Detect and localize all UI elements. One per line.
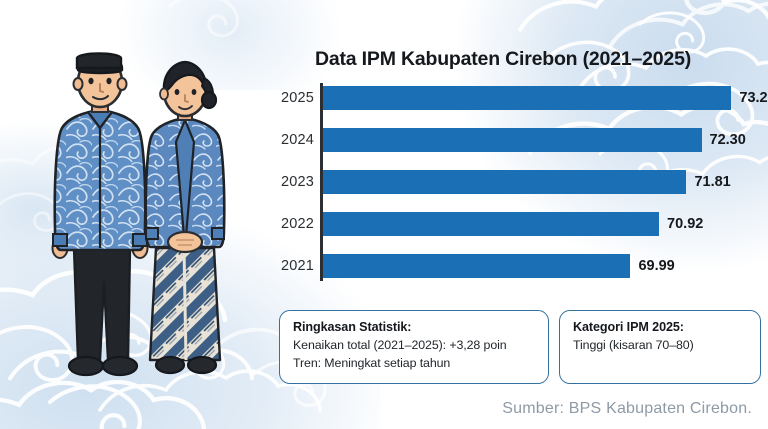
bar-track: 70.92 [320, 209, 760, 239]
bar-category-label: 2024 [268, 132, 320, 148]
bar-category-label: 2022 [268, 216, 320, 232]
bar-value-label: 73.27 [739, 90, 768, 106]
bar-row: 202169.99 [268, 251, 760, 281]
ipm-bar-chart: Data IPM Kabupaten Cirebon (2021–2025) 2… [268, 48, 760, 298]
source-caption: Sumber: BPS Kabupaten Cirebon. [502, 400, 752, 418]
bar-fill [323, 128, 702, 152]
bar-row: 202270.92 [268, 209, 760, 239]
bar-value-label: 69.99 [638, 258, 674, 274]
bar-category-label: 2023 [268, 174, 320, 190]
bar-category-label: 2021 [268, 258, 320, 274]
statistics-summary-box: Ringkasan Statistik: Kenaikan total (202… [279, 310, 549, 384]
statistics-summary-heading: Ringkasan Statistik: [293, 320, 536, 334]
bar-track: 69.99 [320, 251, 760, 281]
bar-track: 73.27 [320, 83, 760, 113]
chart-title: Data IPM Kabupaten Cirebon (2021–2025) [268, 48, 760, 71]
category-value: Tinggi (kisaran 70–80) [573, 337, 748, 355]
bar-row: 202472.30 [268, 125, 760, 155]
bar-fill [323, 254, 630, 278]
poster-canvas: Data IPM Kabupaten Cirebon (2021–2025) 2… [0, 0, 768, 429]
chart-plot-area: 202573.27202472.30202371.81202270.922021… [268, 83, 760, 281]
statistics-total-increase: Kenaikan total (2021–2025): +3,28 poin [293, 337, 536, 355]
bar-row: 202573.27 [268, 83, 760, 113]
statistics-trend: Tren: Meningkat setiap tahun [293, 355, 536, 373]
bar-row: 202371.81 [268, 167, 760, 197]
bar-value-label: 71.81 [694, 174, 730, 190]
bar-value-label: 70.92 [667, 216, 703, 232]
bar-track: 72.30 [320, 125, 760, 155]
bar-track: 71.81 [320, 167, 760, 197]
category-heading: Kategori IPM 2025: [573, 320, 748, 334]
bar-fill [323, 170, 686, 194]
bar-fill [323, 86, 731, 110]
bar-value-label: 72.30 [710, 132, 746, 148]
category-box: Kategori IPM 2025: Tinggi (kisaran 70–80… [559, 310, 761, 384]
man-figure [53, 54, 148, 376]
bar-fill [323, 212, 659, 236]
summary-boxes: Ringkasan Statistik: Kenaikan total (202… [279, 310, 761, 384]
woman-figure [146, 62, 225, 373]
couple-batik-illustration [40, 52, 260, 412]
bar-category-label: 2025 [268, 90, 320, 106]
